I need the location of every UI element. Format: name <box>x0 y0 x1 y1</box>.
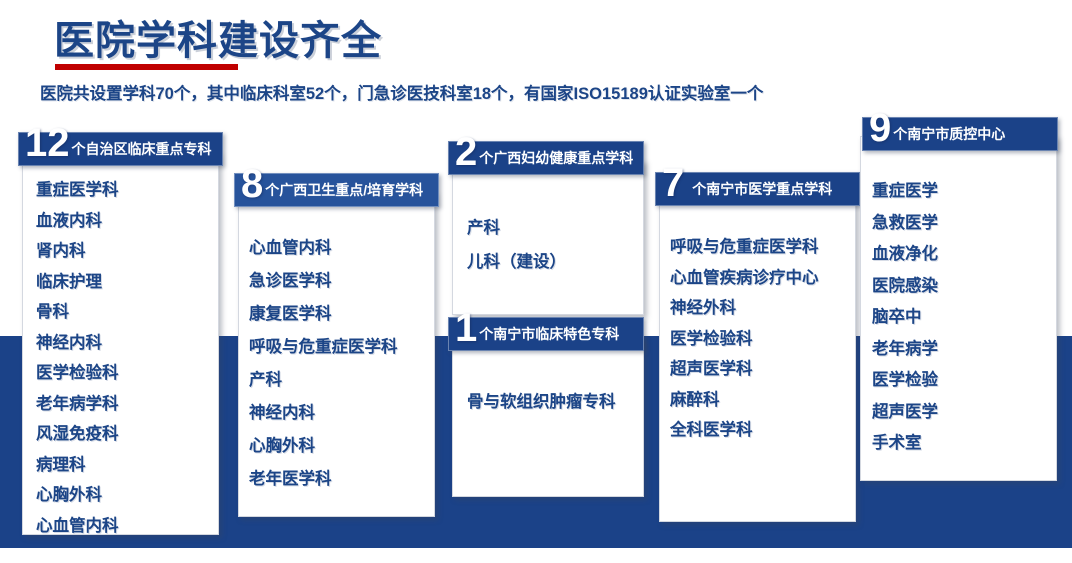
card-list-maternal-child: 产科 儿科（建设） <box>467 211 642 279</box>
list-item: 急救医学 <box>872 208 1057 240</box>
list-item: 产科 <box>249 364 435 397</box>
card-number: 2 <box>455 132 477 172</box>
page-subtitle: 医院共设置学科70个，其中临床科室52个，门急诊医技科室18个，有国家ISO15… <box>40 80 763 104</box>
card-number: 8 <box>241 164 263 204</box>
list-item: 心胸外科 <box>249 430 435 463</box>
list-item: 风湿免疫科 <box>36 419 216 450</box>
list-item: 重症医学科 <box>36 175 216 206</box>
card-header-guangxi-health-key[interactable]: 8 个广西卫生重点/培育学科 <box>234 173 439 207</box>
card-header-quality-control[interactable]: 9 个南宁市质控中心 <box>862 117 1058 151</box>
list-item: 神经内科 <box>249 397 435 430</box>
list-item: 超声医学科 <box>670 354 860 385</box>
list-item: 肾内科 <box>36 236 216 267</box>
card-list-autonomous-region: 重症医学科 血液内科 肾内科 临床护理 骨科 神经内科 医学检验科 老年病学科 … <box>36 175 216 541</box>
card-header-label: 个南宁市质控中心 <box>893 124 1005 144</box>
list-item: 骨与软组织肿瘤专科 <box>467 385 642 419</box>
list-item: 病理科 <box>36 450 216 481</box>
list-item: 血液净化 <box>872 239 1057 271</box>
card-header-label: 个广西妇幼健康重点学科 <box>479 148 633 168</box>
list-item: 重症医学 <box>872 176 1057 208</box>
card-number: 9 <box>869 108 891 148</box>
card-header-nanning-featured[interactable]: 1 个南宁市临床特色专科 <box>448 317 644 351</box>
card-list-nanning-featured: 骨与软组织肿瘤专科 <box>467 385 642 419</box>
list-item: 急诊医学科 <box>249 265 435 298</box>
card-list-quality-control: 重症医学 急救医学 血液净化 医院感染 脑卒中 老年病学 医学检验 超声医学 手… <box>872 176 1057 460</box>
list-item: 神经外科 <box>670 293 860 324</box>
list-item: 产科 <box>467 211 642 245</box>
card-header-label: 个广西卫生重点/培育学科 <box>265 180 423 200</box>
card-header-maternal-child[interactable]: 2 个广西妇幼健康重点学科 <box>448 141 644 175</box>
list-item: 心胸外科 <box>36 480 216 511</box>
card-number: 7 <box>662 163 684 203</box>
card-header-label: 个自治区临床重点专科 <box>72 139 212 159</box>
list-item: 手术室 <box>872 428 1057 460</box>
list-item: 脑卒中 <box>872 302 1057 334</box>
list-item: 医院感染 <box>872 271 1057 303</box>
card-header-label: 个南宁市临床特色专科 <box>479 324 619 344</box>
list-item: 儿科（建设） <box>467 245 642 279</box>
list-item: 老年病学科 <box>36 389 216 420</box>
card-number: 12 <box>25 123 70 163</box>
card-header-autonomous-region[interactable]: 12 个自治区临床重点专科 <box>18 132 223 166</box>
list-item: 老年医学科 <box>249 463 435 496</box>
list-item: 呼吸与危重症医学科 <box>670 232 860 263</box>
list-item: 麻醉科 <box>670 385 860 416</box>
card-header-nanning-key[interactable]: 7 个南宁市医学重点学科 <box>655 172 860 206</box>
list-item: 医学检验科 <box>670 324 860 355</box>
list-item: 康复医学科 <box>249 298 435 331</box>
list-item: 心血管内科 <box>36 511 216 542</box>
list-item: 神经内科 <box>36 328 216 359</box>
card-list-guangxi-health-key: 心血管内科 急诊医学科 康复医学科 呼吸与危重症医学科 产科 神经内科 心胸外科… <box>249 232 435 496</box>
list-item: 心血管疾病诊疗中心 <box>670 263 860 294</box>
page-title: 医院学科建设齐全 <box>54 8 382 66</box>
list-item: 医学检验科 <box>36 358 216 389</box>
list-item: 全科医学科 <box>670 415 860 446</box>
slide-canvas: 医院学科建设齐全 医院共设置学科70个，其中临床科室52个，门急诊医技科室18个… <box>0 0 1072 563</box>
title-underline <box>55 64 238 70</box>
card-number: 1 <box>455 308 477 348</box>
list-item: 呼吸与危重症医学科 <box>249 331 435 364</box>
list-item: 血液内科 <box>36 206 216 237</box>
list-item: 医学检验 <box>872 365 1057 397</box>
list-item: 临床护理 <box>36 267 216 298</box>
list-item: 超声医学 <box>872 397 1057 429</box>
list-item: 老年病学 <box>872 334 1057 366</box>
card-list-nanning-key: 呼吸与危重症医学科 心血管疾病诊疗中心 神经外科 医学检验科 超声医学科 麻醉科… <box>670 232 860 446</box>
list-item: 骨科 <box>36 297 216 328</box>
card-header-label: 个南宁市医学重点学科 <box>686 179 832 199</box>
list-item: 心血管内科 <box>249 232 435 265</box>
